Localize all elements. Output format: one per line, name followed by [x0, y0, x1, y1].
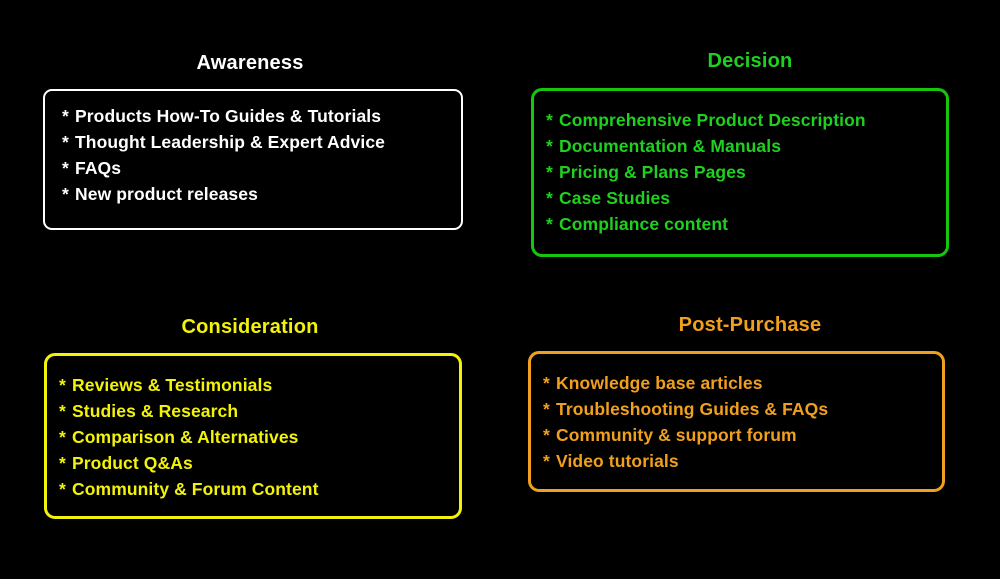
- bullet-star-icon: *: [59, 398, 72, 424]
- list-item: *Studies & Research: [59, 398, 319, 424]
- list-item-label: Video tutorials: [556, 451, 679, 471]
- bullet-star-icon: *: [62, 155, 75, 181]
- list-item-label: Comprehensive Product Description: [559, 110, 866, 130]
- quadrant-title-decision: Decision: [500, 51, 1000, 71]
- bullet-star-icon: *: [62, 181, 75, 207]
- list-item-label: Knowledge base articles: [556, 373, 763, 393]
- bullet-star-icon: *: [543, 422, 556, 448]
- list-item-label: Product Q&As: [72, 453, 193, 473]
- list-item-label: Troubleshooting Guides & FAQs: [556, 399, 828, 419]
- list-item: *Compliance content: [546, 211, 866, 237]
- list-item-label: Documentation & Manuals: [559, 136, 781, 156]
- list-item: *New product releases: [62, 181, 385, 207]
- list-item-label: Comparison & Alternatives: [72, 427, 299, 447]
- list-item: *FAQs: [62, 155, 385, 181]
- bullet-star-icon: *: [59, 476, 72, 502]
- quadrant-post-purchase: Post-Purchase *Knowledge base articles *…: [500, 290, 1000, 579]
- list-item: *Knowledge base articles: [543, 370, 828, 396]
- list-item-label: Pricing & Plans Pages: [559, 162, 746, 182]
- bullet-star-icon: *: [543, 448, 556, 474]
- list-item: *Community & support forum: [543, 422, 828, 448]
- list-item-label: Case Studies: [559, 188, 670, 208]
- list-item: *Comprehensive Product Description: [546, 107, 866, 133]
- content-list-decision: *Comprehensive Product Description *Docu…: [546, 107, 866, 237]
- quadrant-title-post-purchase: Post-Purchase: [500, 315, 1000, 335]
- bullet-star-icon: *: [543, 370, 556, 396]
- quadrant-consideration: Consideration *Reviews & Testimonials *S…: [0, 290, 500, 579]
- bullet-star-icon: *: [59, 372, 72, 398]
- list-item: *Thought Leadership & Expert Advice: [62, 129, 385, 155]
- list-item-label: Community & Forum Content: [72, 479, 319, 499]
- list-item-label: Compliance content: [559, 214, 728, 234]
- list-item: *Community & Forum Content: [59, 476, 319, 502]
- bullet-star-icon: *: [543, 396, 556, 422]
- quadrant-awareness: Awareness *Products How-To Guides & Tuto…: [0, 0, 500, 290]
- list-item: *Products How-To Guides & Tutorials: [62, 103, 385, 129]
- bullet-star-icon: *: [59, 450, 72, 476]
- content-list-awareness: *Products How-To Guides & Tutorials *Tho…: [62, 103, 385, 207]
- list-item: *Case Studies: [546, 185, 866, 211]
- bullet-star-icon: *: [62, 129, 75, 155]
- list-item: *Documentation & Manuals: [546, 133, 866, 159]
- list-item: *Pricing & Plans Pages: [546, 159, 866, 185]
- list-item-label: FAQs: [75, 158, 121, 178]
- content-list-post-purchase: *Knowledge base articles *Troubleshootin…: [543, 370, 828, 474]
- list-item-label: Thought Leadership & Expert Advice: [75, 132, 385, 152]
- list-item-label: Studies & Research: [72, 401, 238, 421]
- quadrant-title-consideration: Consideration: [0, 317, 500, 337]
- list-item: *Reviews & Testimonials: [59, 372, 319, 398]
- list-item-label: New product releases: [75, 184, 258, 204]
- content-list-consideration: *Reviews & Testimonials *Studies & Resea…: [59, 372, 319, 502]
- bullet-star-icon: *: [546, 159, 559, 185]
- bullet-star-icon: *: [59, 424, 72, 450]
- list-item: *Comparison & Alternatives: [59, 424, 319, 450]
- bullet-star-icon: *: [546, 185, 559, 211]
- list-item-label: Community & support forum: [556, 425, 797, 445]
- bullet-star-icon: *: [546, 107, 559, 133]
- list-item: *Troubleshooting Guides & FAQs: [543, 396, 828, 422]
- list-item: *Video tutorials: [543, 448, 828, 474]
- bullet-star-icon: *: [62, 103, 75, 129]
- list-item-label: Reviews & Testimonials: [72, 375, 272, 395]
- bullet-star-icon: *: [546, 211, 559, 237]
- quadrant-title-awareness: Awareness: [0, 53, 500, 73]
- funnel-content-map: Awareness *Products How-To Guides & Tuto…: [0, 0, 1000, 579]
- quadrant-decision: Decision *Comprehensive Product Descript…: [500, 0, 1000, 290]
- bullet-star-icon: *: [546, 133, 559, 159]
- list-item: *Product Q&As: [59, 450, 319, 476]
- list-item-label: Products How-To Guides & Tutorials: [75, 106, 381, 126]
